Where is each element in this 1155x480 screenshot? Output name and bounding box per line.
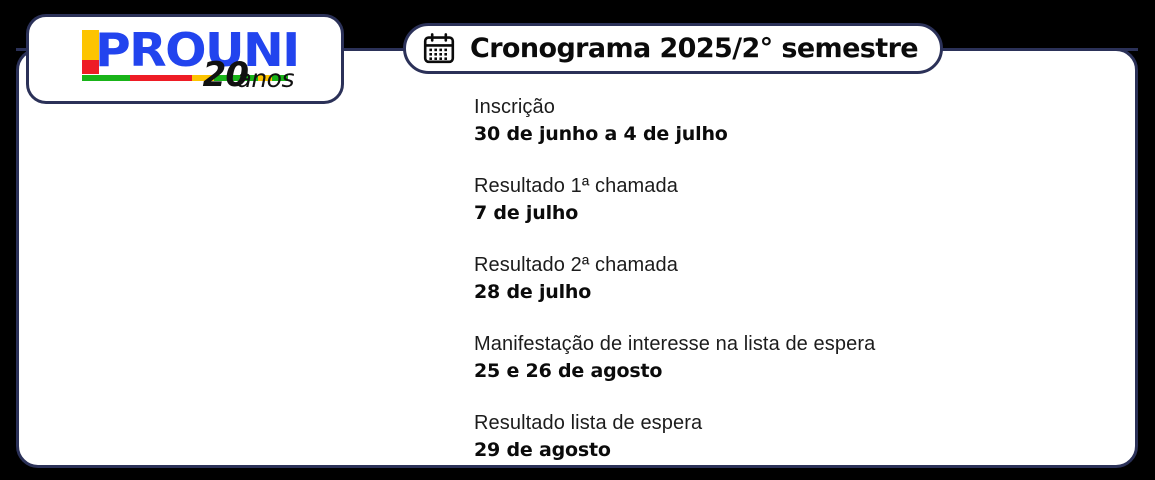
- schedule-label: Resultado 1ª chamada: [474, 173, 1114, 200]
- schedule-label: Inscrição: [474, 94, 1114, 121]
- schedule-list: Inscrição 30 de junho a 4 de julho Resul…: [474, 94, 1114, 463]
- prouni-logo-pill: PROUNI 20 anos: [26, 14, 344, 104]
- schedule-date: 28 de julho: [474, 279, 1114, 305]
- schedule-date: 30 de junho a 4 de julho: [474, 121, 1114, 147]
- schedule-date: 25 e 26 de agosto: [474, 358, 1114, 384]
- list-item: Resultado 2ª chamada 28 de julho: [474, 252, 1114, 305]
- prouni-logo: PROUNI 20 anos: [82, 28, 288, 90]
- calendar-icon: [422, 32, 456, 66]
- header-title-pill: Cronograma 2025/2° semestre: [403, 23, 943, 74]
- list-item: Resultado 1ª chamada 7 de julho: [474, 173, 1114, 226]
- list-item: Resultado lista de espera 29 de agosto: [474, 410, 1114, 463]
- schedule-date: 29 de agosto: [474, 437, 1114, 463]
- schedule-label: Resultado lista de espera: [474, 410, 1114, 437]
- list-item: Manifestação de interesse na lista de es…: [474, 331, 1114, 384]
- infographic-canvas: PROUNI 20 anos: [0, 0, 1155, 480]
- schedule-date: 7 de julho: [474, 200, 1114, 226]
- schedule-label: Resultado 2ª chamada: [474, 252, 1114, 279]
- schedule-label: Manifestação de interesse na lista de es…: [474, 331, 1114, 358]
- page-title: Cronograma 2025/2° semestre: [470, 34, 918, 64]
- list-item: Inscrição 30 de junho a 4 de julho: [474, 94, 1114, 147]
- logo-anniversary-word: anos: [237, 66, 295, 91]
